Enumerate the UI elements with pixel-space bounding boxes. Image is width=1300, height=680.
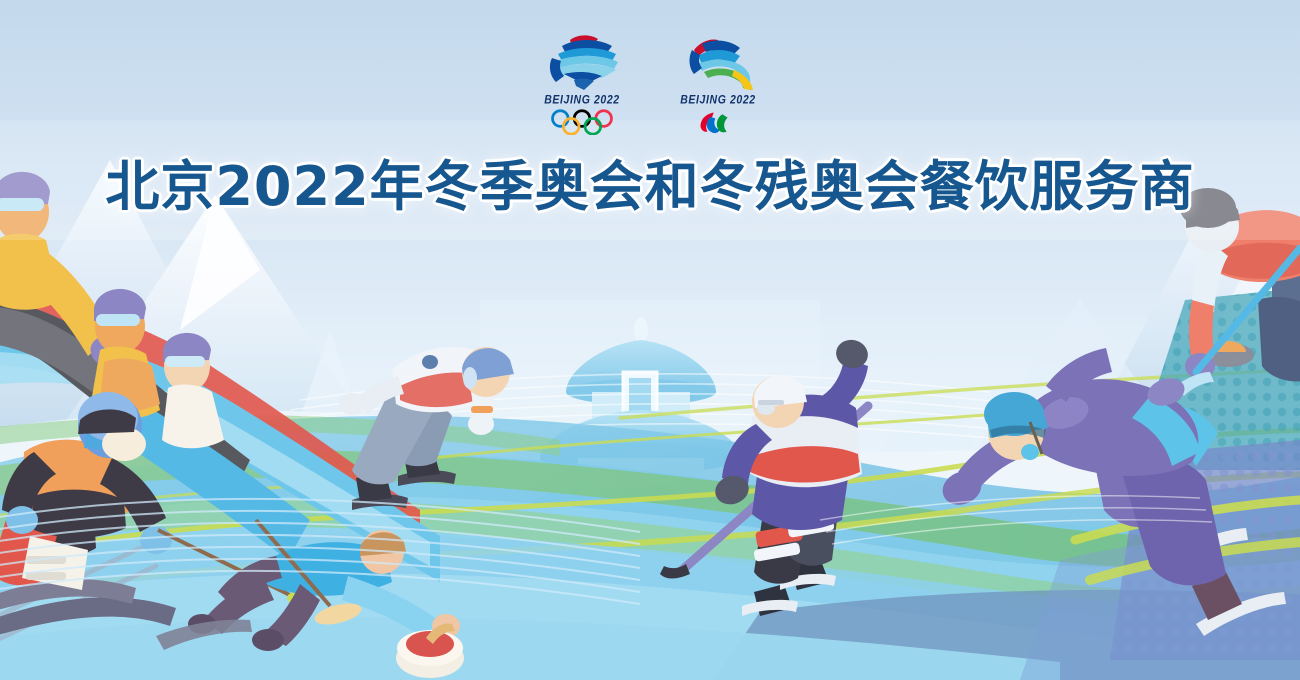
paralympic-emblem: BEIJING 2022	[668, 30, 768, 140]
olympic-rings-icon	[543, 109, 621, 135]
paralympic-wordmark: BEIJING 2022	[680, 93, 756, 107]
winter-dream-emblem	[532, 30, 632, 92]
olympic-emblem: BEIJING 2022	[532, 30, 632, 140]
page-title-wrap: 北京2022年冬季奥会和冬残奥会餐饮服务商	[0, 142, 1300, 221]
agitos-icon	[679, 109, 757, 135]
flight-emblem	[668, 30, 768, 92]
page-title: 北京2022年冬季奥会和冬残奥会餐饮服务商	[105, 142, 1194, 221]
emblem-row: BEIJING 2022 BEIJIN	[0, 30, 1300, 140]
olympic-wordmark: BEIJING 2022	[544, 93, 620, 107]
beijing-2022-banner: BEIJING 2022 BEIJIN	[0, 0, 1300, 680]
